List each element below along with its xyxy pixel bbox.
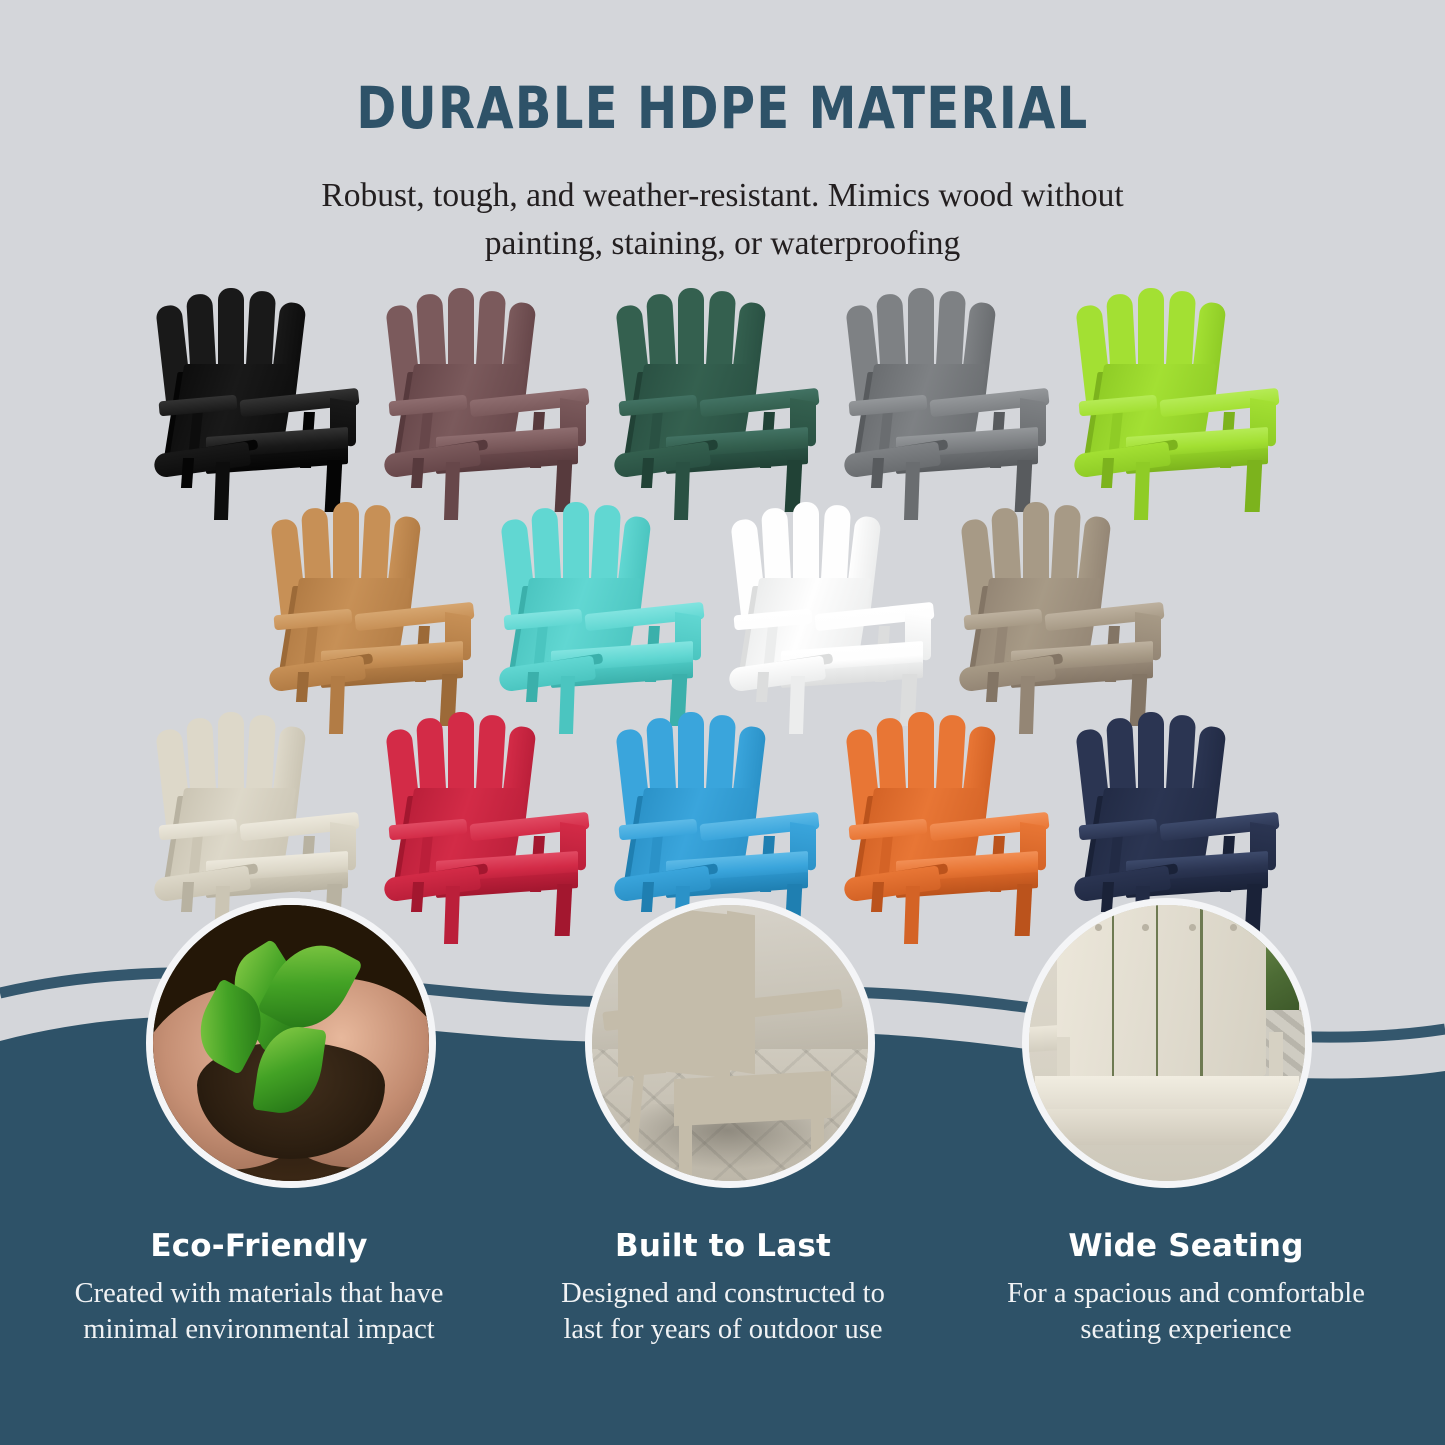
- screw-icon: [1142, 924, 1149, 931]
- back-slat-gap: [1200, 898, 1202, 1076]
- page-title: DURABLE HDPE MATERIAL: [58, 74, 1387, 142]
- chair-leg: [904, 886, 920, 944]
- chair-leg: [871, 882, 884, 912]
- chair-swatch-weathered-wood[interactable]: [953, 486, 1183, 698]
- chair-leg: [181, 458, 194, 488]
- feature-description-line-1: Designed and constructed to: [561, 1278, 885, 1309]
- chair-swatch-dark-green[interactable]: [608, 272, 838, 484]
- chair-swatch-white[interactable]: [723, 486, 953, 698]
- chair-leg: [214, 462, 230, 520]
- chair-swatch-red[interactable]: [378, 696, 608, 908]
- feature-photo-eco-friendly: [146, 898, 436, 1188]
- chair-swatch-beige-ivory[interactable]: [148, 696, 378, 908]
- adirondack-chair-icon: [723, 486, 953, 698]
- feature-description: For a spacious and comfortable seating e…: [951, 1276, 1421, 1349]
- chair-seat-apron: [1040, 1109, 1299, 1145]
- chair-swatch-turquoise[interactable]: [493, 486, 723, 698]
- back-slat-gap: [674, 918, 678, 1069]
- chair-swatch-navy-blue[interactable]: [1068, 696, 1298, 908]
- chair-leg: [811, 1107, 824, 1165]
- chair-leg: [411, 458, 424, 488]
- chair-leg: [555, 884, 573, 936]
- marketing-infographic: DURABLE HDPE MATERIAL Robust, tough, and…: [0, 0, 1445, 1445]
- chair-color-swatch-grid: [0, 272, 1445, 912]
- weathered-wood-chair-on-patio-photo: [592, 905, 868, 1181]
- chair-swatch-blue[interactable]: [608, 696, 838, 908]
- adirondack-chair-icon: [263, 486, 493, 698]
- adirondack-chair-icon: [608, 696, 838, 908]
- chair-swatch-brown[interactable]: [378, 272, 608, 484]
- chair-leg: [679, 1117, 692, 1175]
- screw-icon: [1095, 924, 1102, 931]
- chair-swatch-black[interactable]: [148, 272, 378, 484]
- back-slat-gap: [694, 916, 698, 1070]
- adirondack-chair-icon: [838, 696, 1068, 908]
- chair-leg: [1245, 460, 1263, 512]
- adirondack-chair-icon: [148, 696, 378, 908]
- chair-leg: [1101, 458, 1114, 488]
- adirondack-chair-icon: [493, 486, 723, 698]
- feature-title: Built to Last: [488, 1228, 958, 1264]
- screw-icon: [1189, 924, 1196, 931]
- patio-chair: [603, 911, 857, 1176]
- chair-leg: [871, 458, 884, 488]
- feature-title: Eco-Friendly: [24, 1228, 494, 1264]
- chair-seat-surface: [1035, 1076, 1300, 1112]
- feature-description-line-2: last for years of outdoor use: [564, 1314, 883, 1345]
- chair-swatch-gray[interactable]: [838, 272, 1068, 484]
- feature-caption-eco-friendly: Eco-Friendly Created with materials that…: [24, 1228, 494, 1349]
- feature-description-line-2: minimal environmental impact: [83, 1314, 434, 1345]
- feature-caption-wide-seating: Wide Seating For a spacious and comforta…: [951, 1228, 1421, 1349]
- adirondack-chair-icon: [378, 272, 608, 484]
- chair-leg: [444, 886, 460, 944]
- chair-swatch-teak-tan[interactable]: [263, 486, 493, 698]
- adirondack-chair-icon: [1068, 696, 1298, 908]
- feature-title: Wide Seating: [951, 1228, 1421, 1264]
- adirondack-chair-icon: [148, 272, 378, 484]
- feature-photo-wide-seating: [1022, 898, 1312, 1188]
- adirondack-chair-icon: [1068, 272, 1298, 484]
- back-slat-gap: [1112, 898, 1114, 1076]
- back-slat-gap: [1156, 898, 1158, 1076]
- back-slat-gap: [649, 924, 653, 1070]
- chair-back-left: [618, 919, 666, 1077]
- subtitle-line-2: painting, staining, or waterproofing: [218, 220, 1228, 268]
- wide-seat-closeup-photo: [1029, 905, 1305, 1181]
- chair-leg: [641, 458, 654, 488]
- adirondack-chair-icon: [953, 486, 1183, 698]
- feature-caption-built-to-last: Built to Last Designed and constructed t…: [488, 1228, 958, 1349]
- subtitle-line-1: Robust, tough, and weather-resistant. Mi…: [218, 172, 1228, 220]
- feature-description: Created with materials that have minimal…: [24, 1276, 494, 1349]
- adirondack-chair-icon: [608, 272, 838, 484]
- feature-description-line-1: For a spacious and comfortable: [1007, 1278, 1365, 1309]
- adirondack-chair-icon: [838, 272, 1068, 484]
- feature-photo-built-to-last: [585, 898, 875, 1188]
- hands-holding-seedling-photo: [153, 905, 429, 1181]
- feature-description-line-2: seating experience: [1080, 1314, 1291, 1345]
- back-slat-gap: [634, 926, 638, 1069]
- chair-back-right: [727, 911, 755, 1074]
- chair-swatch-orange[interactable]: [838, 696, 1068, 908]
- feature-description: Designed and constructed to last for yea…: [488, 1276, 958, 1349]
- page-subtitle: Robust, tough, and weather-resistant. Mi…: [218, 172, 1228, 267]
- chair-swatch-lime-green[interactable]: [1068, 272, 1298, 484]
- feature-description-line-1: Created with materials that have: [75, 1278, 444, 1309]
- screw-icon: [1230, 924, 1237, 931]
- adirondack-chair-icon: [378, 696, 608, 908]
- chair-leg: [627, 1069, 644, 1148]
